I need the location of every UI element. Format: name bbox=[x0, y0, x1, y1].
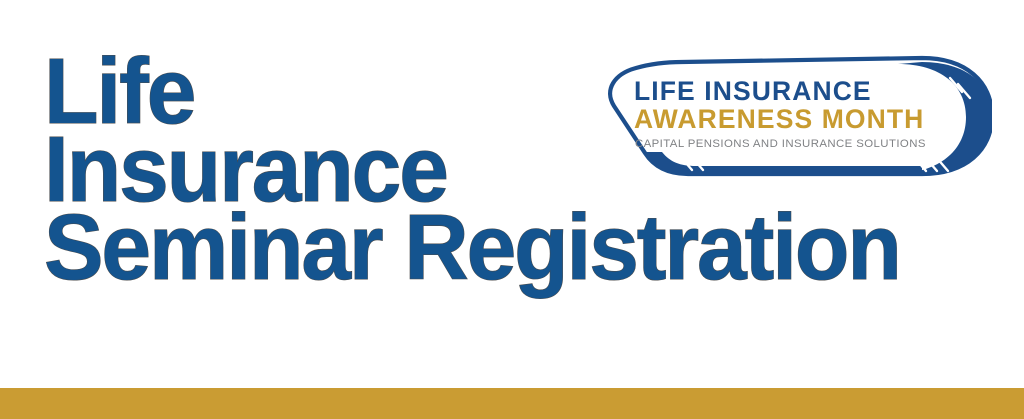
logo-title-line2: AWARENESS MONTH bbox=[634, 104, 924, 134]
logo-title-line1: LIFE INSURANCE bbox=[634, 76, 872, 106]
banner: Life Insurance Seminar Registration bbox=[0, 0, 1024, 419]
bottom-accent-bar bbox=[0, 388, 1024, 419]
logo: LIFE INSURANCE AWARENESS MONTH CAPITAL P… bbox=[592, 52, 992, 187]
logo-tagline: CAPITAL PENSIONS AND INSURANCE SOLUTIONS bbox=[635, 138, 926, 150]
headline-line-3: Seminar Registration bbox=[44, 208, 966, 286]
